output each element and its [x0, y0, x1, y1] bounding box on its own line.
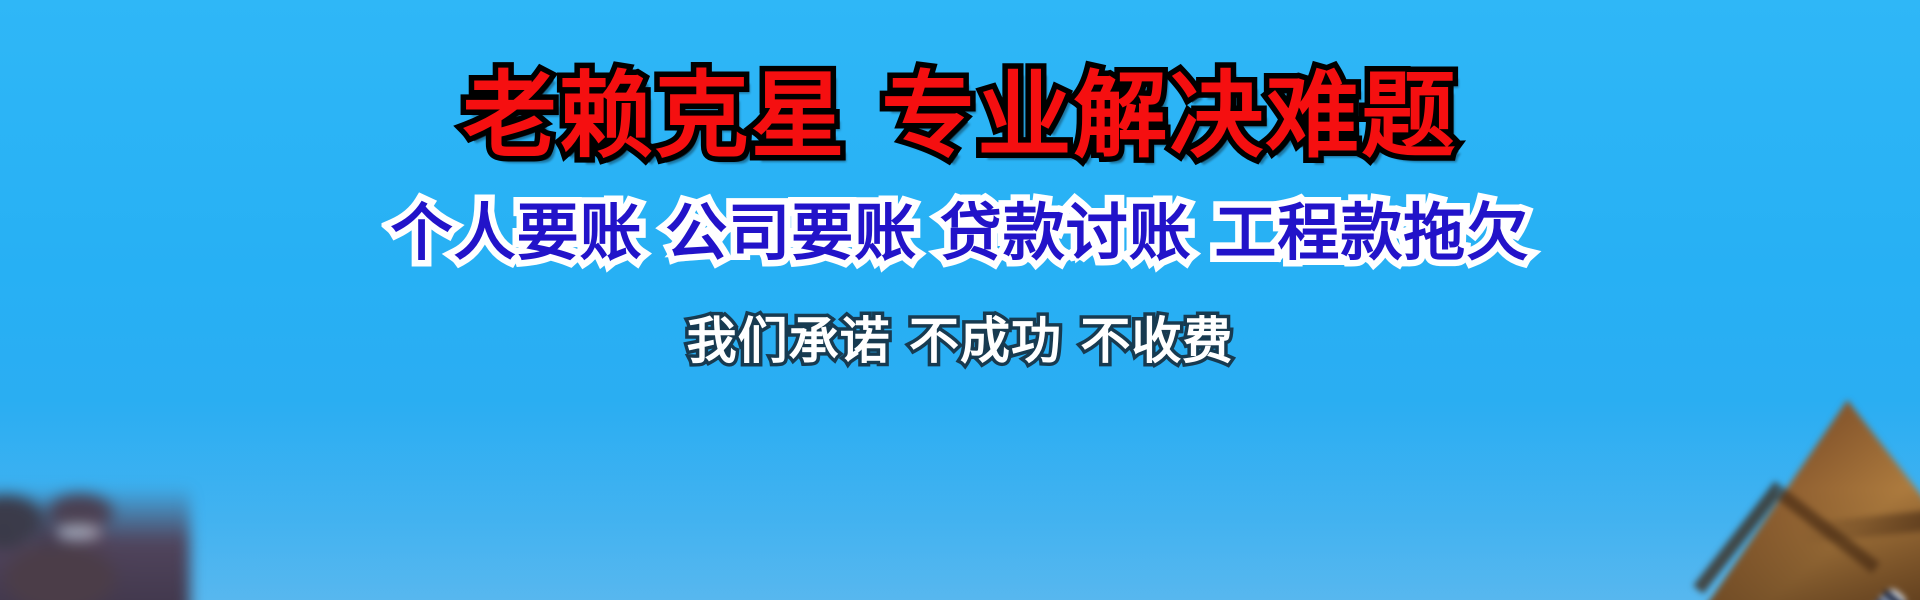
promise-text: 我们承诺 不成功 不收费	[687, 316, 1234, 366]
headline: 老赖克星 专业解决难题	[463, 70, 1458, 164]
subheadline: 个人要账 公司要账 贷款讨账 工程款拖欠	[391, 202, 1530, 264]
promo-banner: 老赖克星 专业解决难题 个人要账 公司要账 贷款讨账 工程款拖欠 我们承诺 不成…	[0, 0, 1920, 600]
banner-text-stack: 老赖克星 专业解决难题 个人要账 公司要账 贷款讨账 工程款拖欠 我们承诺 不成…	[0, 0, 1920, 600]
